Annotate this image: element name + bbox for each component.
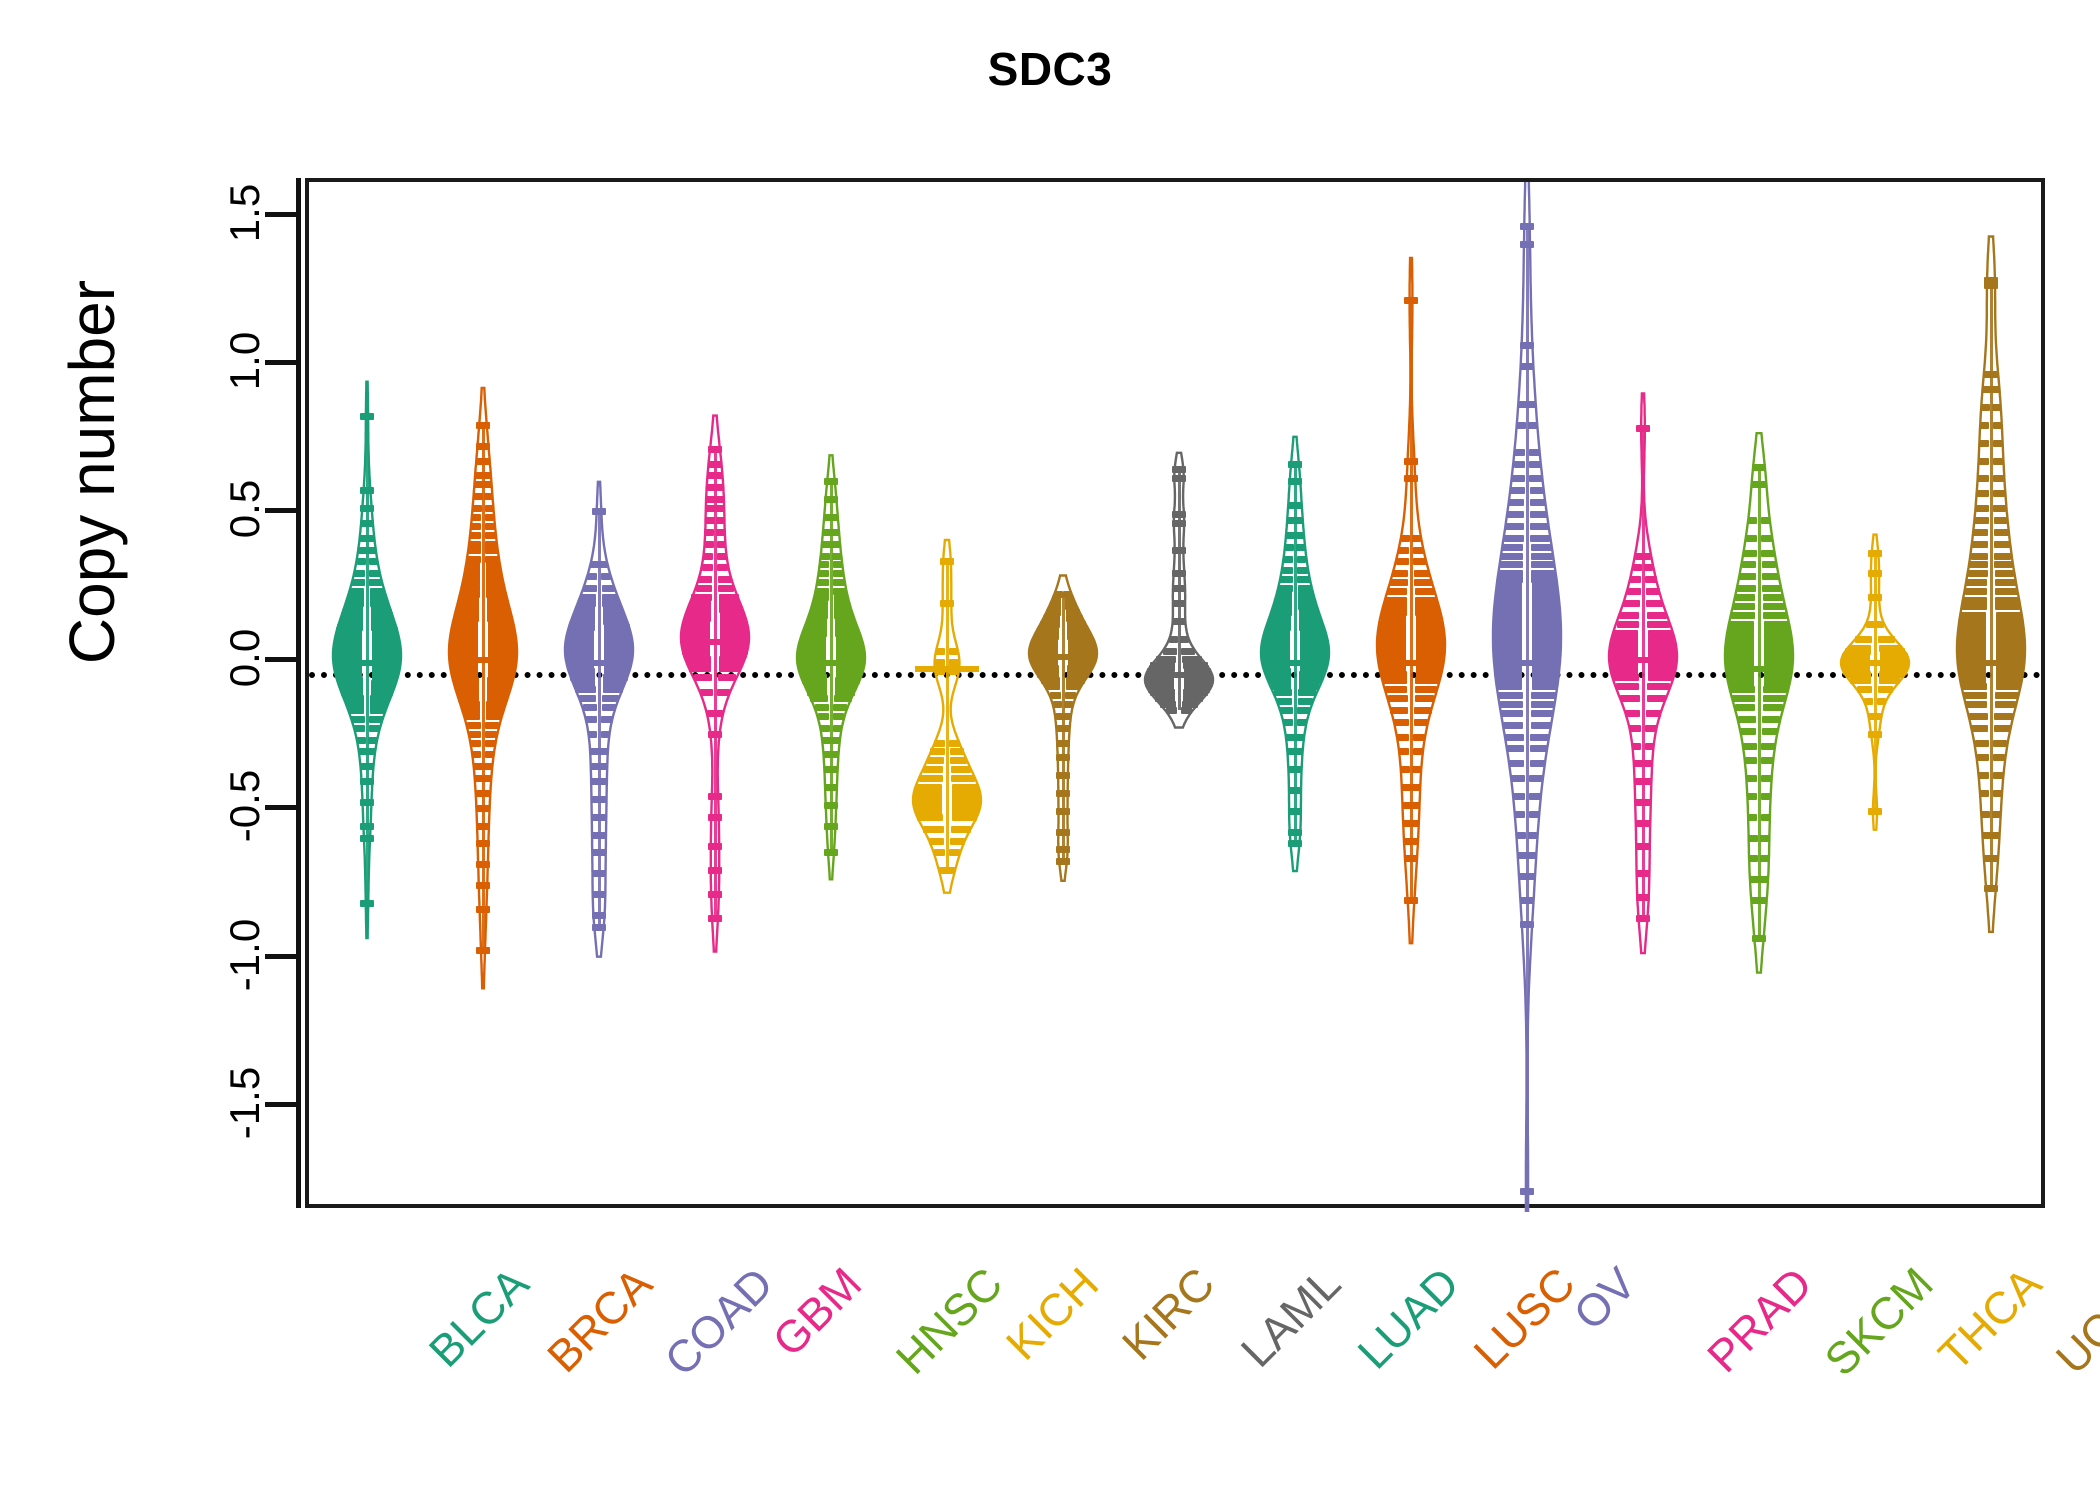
- x-axis-label-kirc: KIRC: [1112, 1258, 1225, 1371]
- data-point: [486, 585, 505, 592]
- data-point: [347, 594, 364, 601]
- data-point: [602, 704, 616, 711]
- data-point: [1412, 535, 1421, 542]
- data-point: [1298, 603, 1317, 610]
- data-point: [1277, 698, 1292, 705]
- data-point: [1532, 582, 1558, 589]
- data-point: [1275, 597, 1292, 604]
- data-point: [714, 472, 723, 479]
- data-point: [1414, 579, 1432, 586]
- data-point: [1991, 386, 2000, 393]
- data-point: [1996, 677, 2022, 684]
- data-point: [1409, 838, 1418, 845]
- data-point: [1729, 621, 1755, 628]
- data-point: [1278, 585, 1292, 592]
- data-point: [1299, 683, 1320, 690]
- data-point: [1156, 656, 1175, 663]
- x-axis-label-blca: BLCA: [419, 1258, 539, 1378]
- x-axis-label-hnsc: HNSC: [886, 1258, 1013, 1385]
- data-point: [1530, 745, 1547, 752]
- data-point: [1733, 603, 1755, 610]
- data-point: [1728, 680, 1754, 687]
- data-point: [1531, 701, 1554, 708]
- data-point: [1518, 852, 1527, 859]
- x-axis-label-coad: COAD: [655, 1258, 784, 1387]
- data-point: [1177, 547, 1186, 554]
- data-point: [1387, 588, 1408, 595]
- data-point: [472, 751, 481, 758]
- data-point: [1993, 505, 2006, 512]
- data-point: [485, 740, 496, 747]
- data-point: [1300, 630, 1326, 637]
- data-point: [1528, 832, 1537, 839]
- data-point: [1390, 579, 1408, 586]
- data-point: [1972, 541, 1988, 548]
- data-point: [1169, 636, 1178, 643]
- data-point: [458, 695, 479, 702]
- data-point: [1993, 772, 2003, 779]
- data-point: [1525, 363, 1534, 370]
- data-point: [1532, 683, 1558, 690]
- data-point: [945, 600, 954, 607]
- page-title: SDC3: [0, 42, 2100, 96]
- data-point: [1411, 784, 1420, 791]
- data-point: [460, 591, 480, 598]
- data-point: [1061, 772, 1070, 779]
- data-point: [713, 814, 722, 821]
- data-point: [1501, 710, 1523, 717]
- data-point: [1065, 692, 1076, 699]
- data-point: [597, 912, 606, 919]
- x-axis-label-kich: KICH: [996, 1258, 1109, 1371]
- data-point: [1879, 677, 1900, 684]
- data-point: [1992, 404, 2001, 411]
- data-point: [951, 826, 971, 833]
- data-point: [927, 757, 944, 764]
- data-point: [1973, 529, 1988, 536]
- data-point: [1531, 710, 1553, 717]
- data-point: [602, 594, 618, 601]
- data-point: [1629, 725, 1641, 732]
- data-point: [370, 588, 385, 595]
- data-point: [1962, 603, 1987, 610]
- data-point: [1994, 713, 2013, 720]
- data-point: [1993, 740, 2007, 747]
- data-point: [829, 849, 838, 856]
- data-point: [473, 505, 482, 512]
- data-point: [486, 579, 503, 586]
- data-point: [1177, 466, 1186, 473]
- data-point: [1177, 475, 1186, 482]
- data-point: [1994, 561, 2013, 568]
- median-bar: [1611, 657, 1676, 663]
- data-point: [1529, 449, 1540, 456]
- data-point: [1528, 422, 1537, 429]
- data-point: [1873, 713, 1882, 720]
- data-point: [835, 689, 855, 696]
- data-point: [1996, 671, 2023, 678]
- data-point: [1293, 478, 1302, 485]
- data-point: [1761, 550, 1774, 557]
- data-point: [717, 553, 727, 560]
- data-point: [1531, 544, 1552, 551]
- data-point: [1958, 630, 1986, 637]
- data-point: [1993, 458, 2004, 465]
- data-point: [1150, 662, 1174, 669]
- data-point: [365, 763, 374, 770]
- data-point: [834, 612, 853, 619]
- data-point: [717, 689, 730, 696]
- data-point: [834, 695, 852, 702]
- data-point: [1764, 621, 1790, 628]
- data-point: [1286, 532, 1295, 539]
- data-point: [369, 725, 380, 732]
- data-point: [1996, 630, 2024, 637]
- data-point: [1177, 585, 1186, 592]
- data-point: [919, 775, 943, 782]
- data-point: [1647, 695, 1667, 702]
- data-point: [481, 790, 490, 797]
- data-point: [1529, 793, 1541, 800]
- data-point: [1502, 544, 1523, 551]
- data-point: [1995, 570, 2015, 577]
- data-point: [351, 716, 365, 723]
- data-point: [1517, 832, 1526, 839]
- data-point: [716, 517, 725, 524]
- data-point: [1283, 719, 1293, 726]
- data-point: [829, 766, 838, 773]
- data-point: [719, 600, 740, 607]
- data-point: [821, 553, 830, 560]
- data-point: [717, 564, 728, 571]
- data-point: [718, 576, 733, 583]
- data-point: [1763, 704, 1784, 711]
- data-point: [1857, 686, 1873, 693]
- data-point: [1873, 570, 1882, 577]
- data-point: [481, 906, 490, 913]
- data-point: [1296, 544, 1305, 551]
- data-point: [1957, 642, 1986, 649]
- data-point: [705, 541, 714, 548]
- data-point: [1525, 223, 1534, 230]
- violin-spine: [946, 562, 949, 871]
- data-point: [598, 778, 607, 785]
- data-point: [365, 487, 374, 494]
- data-point: [484, 493, 493, 500]
- data-point: [461, 585, 480, 592]
- data-point: [831, 541, 840, 548]
- data-point: [1505, 523, 1524, 530]
- data-point: [706, 496, 715, 503]
- data-point: [370, 600, 388, 607]
- data-point: [698, 576, 713, 583]
- data-point: [813, 600, 829, 607]
- data-point: [952, 790, 980, 797]
- data-point: [474, 493, 483, 500]
- data-point: [368, 737, 377, 744]
- violin-spine: [1526, 227, 1529, 1192]
- data-point: [1273, 603, 1292, 610]
- data-point: [603, 612, 625, 619]
- data-point: [485, 505, 494, 512]
- data-point: [1413, 547, 1424, 554]
- data-point: [603, 680, 625, 687]
- data-point: [601, 573, 611, 580]
- data-point: [1647, 612, 1667, 619]
- x-axis-label-ucec: UCEC: [2046, 1258, 2100, 1385]
- data-point: [1409, 458, 1418, 465]
- data-point: [1762, 573, 1779, 580]
- data-point: [1041, 677, 1060, 684]
- data-point: [949, 849, 960, 856]
- data-point: [1297, 719, 1307, 726]
- data-point: [350, 588, 365, 595]
- data-point: [1619, 612, 1639, 619]
- median-bar: [1031, 654, 1096, 660]
- data-point: [1401, 535, 1410, 542]
- data-point: [1993, 490, 2005, 497]
- data-point: [1960, 612, 1986, 619]
- data-point: [1183, 695, 1204, 702]
- data-point: [1529, 811, 1539, 818]
- data-point: [1994, 725, 2011, 732]
- data-point: [1848, 645, 1871, 652]
- data-point: [1414, 570, 1430, 577]
- data-point: [705, 529, 714, 536]
- y-axis-tick: [265, 508, 299, 513]
- data-point: [365, 900, 374, 907]
- data-point: [1750, 876, 1759, 883]
- data-point: [1177, 600, 1186, 607]
- data-point: [713, 867, 722, 874]
- data-point: [1994, 541, 2010, 548]
- data-point: [485, 523, 495, 530]
- data-point: [470, 740, 481, 747]
- data-point: [469, 731, 481, 738]
- data-point: [1610, 642, 1638, 649]
- data-point: [1993, 440, 2003, 447]
- violin-spine: [482, 425, 485, 950]
- data-point: [1181, 707, 1192, 714]
- data-point: [1409, 475, 1418, 482]
- violin-spine: [1874, 553, 1877, 811]
- data-point: [1989, 855, 1998, 862]
- data-point: [597, 870, 606, 877]
- data-point: [703, 553, 713, 560]
- data-point: [573, 680, 595, 687]
- data-point: [474, 763, 483, 770]
- data-point: [1525, 342, 1534, 349]
- data-point: [1646, 710, 1661, 717]
- data-point: [700, 689, 713, 696]
- data-point: [1763, 594, 1783, 601]
- y-axis-line: [296, 178, 301, 1208]
- data-point: [831, 737, 840, 744]
- data-point: [829, 496, 838, 503]
- data-point: [949, 648, 958, 655]
- data-point: [1415, 686, 1437, 693]
- data-point: [1864, 698, 1874, 705]
- data-point: [1514, 449, 1525, 456]
- data-point: [1995, 692, 2019, 699]
- data-point: [1293, 840, 1302, 847]
- violin-spine: [1410, 301, 1413, 901]
- x-axis-label-ov: OV: [1564, 1258, 1647, 1341]
- data-point: [834, 600, 850, 607]
- data-point: [929, 838, 944, 845]
- data-point: [805, 683, 827, 690]
- data-point: [716, 529, 725, 536]
- violin-spine: [830, 482, 833, 853]
- data-point: [1960, 677, 1986, 684]
- data-point: [1181, 648, 1194, 655]
- data-point: [1642, 799, 1651, 806]
- data-point: [1271, 683, 1292, 690]
- data-point: [1731, 612, 1755, 619]
- x-axis-label-gbm: GBM: [763, 1258, 872, 1367]
- data-point: [1995, 603, 2020, 610]
- x-axis-label-skcm: SKCM: [1815, 1258, 1944, 1387]
- data-point: [1625, 710, 1640, 717]
- y-axis-tick-label: -1.5: [221, 993, 269, 1213]
- data-point: [1402, 784, 1411, 791]
- data-point: [1623, 600, 1640, 607]
- data-point: [1746, 775, 1757, 782]
- data-point: [1959, 671, 1986, 678]
- data-point: [834, 594, 849, 601]
- data-point: [1532, 677, 1558, 684]
- data-point: [1634, 760, 1643, 767]
- data-point: [1298, 689, 1316, 696]
- data-point: [1632, 743, 1641, 750]
- data-point: [354, 725, 365, 732]
- data-point: [1531, 692, 1555, 699]
- data-point: [485, 751, 494, 758]
- data-point: [1757, 935, 1766, 942]
- data-point: [719, 594, 739, 601]
- data-point: [1645, 725, 1657, 732]
- data-point: [1531, 553, 1553, 560]
- data-point: [1531, 561, 1554, 568]
- data-point: [1996, 651, 2025, 658]
- data-point: [1969, 713, 1988, 720]
- data-point: [1978, 475, 1989, 482]
- data-point: [1061, 829, 1070, 836]
- data-point: [587, 573, 597, 580]
- data-point: [1762, 585, 1781, 592]
- data-point: [1992, 811, 2001, 818]
- data-point: [1061, 740, 1070, 747]
- data-point: [1415, 597, 1437, 604]
- data-point: [1995, 597, 2019, 604]
- data-point: [1761, 775, 1772, 782]
- data-point: [1297, 567, 1308, 574]
- median-bar: [1379, 660, 1444, 666]
- data-point: [829, 784, 838, 791]
- data-point: [1050, 692, 1061, 699]
- data-point: [1182, 656, 1201, 663]
- data-point: [1757, 464, 1766, 471]
- data-point: [1413, 558, 1426, 565]
- data-point: [689, 665, 711, 672]
- data-point: [1961, 683, 1987, 690]
- data-point: [348, 707, 364, 714]
- data-point: [1763, 612, 1787, 619]
- data-point: [1061, 790, 1070, 797]
- data-point: [357, 737, 366, 744]
- data-point: [463, 579, 480, 586]
- median-bar: [683, 639, 748, 645]
- data-point: [465, 567, 480, 574]
- data-point: [1293, 829, 1302, 836]
- data-point: [1530, 760, 1545, 767]
- y-axis-tick: [265, 657, 299, 662]
- data-point: [601, 716, 613, 723]
- data-point: [1873, 731, 1882, 738]
- data-point: [1613, 674, 1639, 681]
- data-point: [1996, 612, 2022, 619]
- data-point: [456, 686, 479, 693]
- data-point: [580, 594, 596, 601]
- data-point: [598, 763, 607, 770]
- data-point: [1730, 686, 1755, 693]
- data-point: [369, 570, 380, 577]
- data-point: [1739, 573, 1756, 580]
- data-point: [829, 802, 838, 809]
- data-point: [1974, 517, 1988, 524]
- data-point: [1646, 588, 1660, 595]
- data-point: [354, 570, 365, 577]
- data-point: [590, 748, 599, 755]
- data-point: [1646, 600, 1663, 607]
- data-point: [1963, 692, 1987, 699]
- data-point: [1399, 748, 1409, 755]
- data-point: [597, 508, 606, 515]
- data-point: [833, 570, 844, 577]
- data-point: [1647, 621, 1670, 628]
- data-point: [1648, 630, 1674, 637]
- data-point: [1530, 734, 1549, 741]
- data-point: [1532, 588, 1559, 595]
- data-point: [1971, 553, 1988, 560]
- data-point: [358, 547, 367, 554]
- data-point: [719, 665, 741, 672]
- data-point: [1647, 683, 1670, 690]
- data-point: [1052, 597, 1062, 604]
- data-point: [1061, 754, 1070, 761]
- data-point: [485, 722, 499, 729]
- data-point: [1965, 701, 1987, 708]
- x-axis-label-laml: LAML: [1231, 1258, 1351, 1378]
- data-point: [1866, 621, 1875, 628]
- data-point: [1381, 671, 1406, 678]
- data-point: [602, 600, 620, 607]
- data-point: [1410, 820, 1419, 827]
- data-point: [1761, 793, 1771, 800]
- data-point: [1642, 553, 1651, 560]
- data-point: [1979, 440, 1989, 447]
- data-point: [1163, 648, 1176, 655]
- data-point: [1530, 523, 1549, 530]
- data-point: [1530, 535, 1550, 542]
- data-point: [713, 446, 722, 453]
- data-point: [809, 612, 828, 619]
- data-point: [1968, 570, 1988, 577]
- data-point: [696, 585, 713, 592]
- data-point: [1299, 621, 1323, 628]
- data-point: [481, 805, 490, 812]
- data-point: [1166, 707, 1177, 714]
